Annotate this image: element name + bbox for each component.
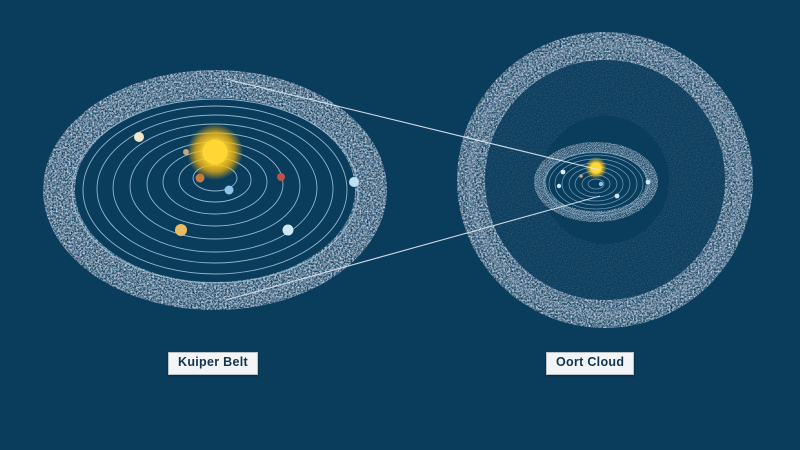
label-oort-cloud: Oort Cloud: [546, 352, 634, 375]
oort-cloud-panel: [440, 15, 770, 345]
planet-red: [277, 173, 285, 181]
diagram-canvas: Kuiper Belt Oort Cloud: [0, 0, 800, 450]
kuiper-belt-ring: [30, 60, 405, 325]
planet-orange: [196, 174, 205, 183]
kuiper-belt-panel: [30, 60, 405, 325]
planet-golden: [175, 224, 187, 236]
planet-lightblue-right: [349, 177, 359, 187]
mini-planet-5: [646, 180, 651, 185]
planet-lightblue-bottom: [283, 225, 294, 236]
mini-planet-4: [599, 182, 603, 186]
mini-planet-1: [561, 170, 566, 175]
label-kuiper-belt: Kuiper Belt: [168, 352, 258, 375]
solar-system-illustration: [0, 0, 800, 450]
planet-paleblue: [225, 186, 234, 195]
mini-planet-6: [615, 194, 620, 199]
sun: [203, 140, 228, 165]
mini-planet-2: [579, 174, 583, 178]
planet-tan-small: [183, 149, 189, 155]
mini-planet-3: [557, 184, 561, 188]
oort-inner-system: [525, 135, 670, 230]
planet-cream: [134, 132, 144, 142]
